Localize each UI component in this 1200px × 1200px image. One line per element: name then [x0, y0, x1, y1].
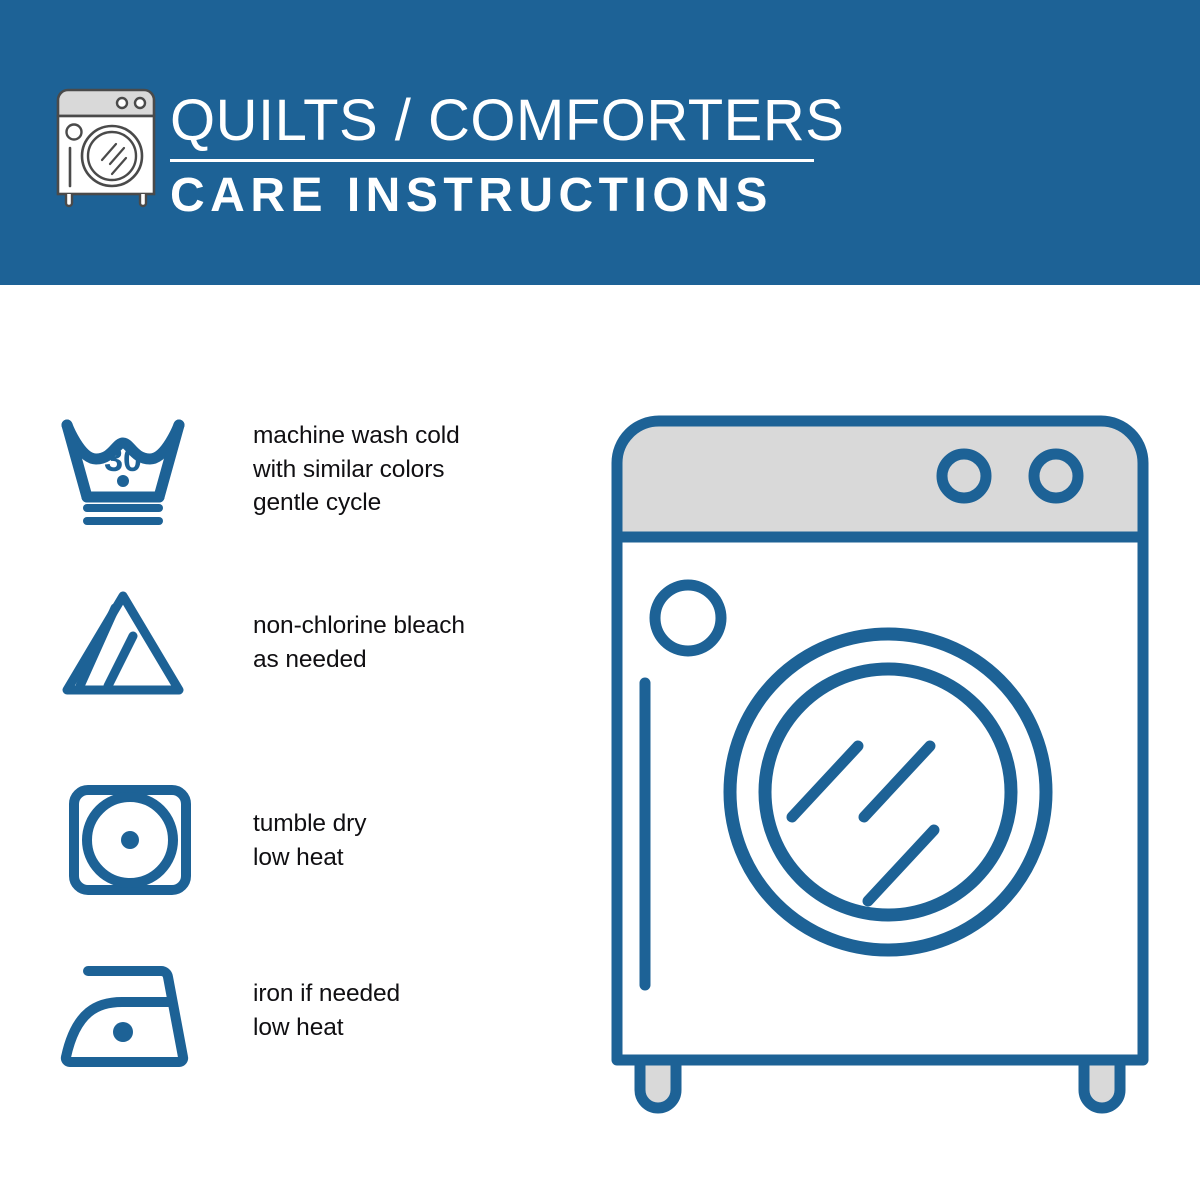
care-label-iron-line-2: low heat	[253, 1011, 400, 1045]
door-shine-lines	[792, 746, 934, 901]
wash-temperature-value: 30	[104, 441, 142, 479]
page-title-secondary: CARE INSTRUCTIONS	[170, 169, 830, 223]
care-label-dry-line-2: low heat	[253, 841, 366, 875]
care-label-wash-line-3: gentle cycle	[253, 486, 460, 520]
care-label-dry: tumble dry low heat	[253, 807, 366, 874]
header-text-block: QUILTS / COMFORTERS CARE INSTRUCTIONS	[170, 88, 830, 223]
control-panel	[617, 421, 1143, 537]
care-label-wash-line-1: machine wash cold	[253, 419, 460, 453]
care-instructions-page: QUILTS / COMFORTERS CARE INSTRUCTIONS 30	[0, 0, 1200, 1200]
care-instruction-list: 30 machine wash cold with similar colors…	[0, 285, 560, 1200]
leg-right	[1084, 1060, 1120, 1108]
non-chlorine-bleach-triangle-icon	[60, 586, 200, 706]
front-load-washing-machine-illustration	[600, 405, 1160, 1125]
care-label-dry-line-1: tumble dry	[253, 807, 366, 841]
care-label-bleach-line-1: non-chlorine bleach	[253, 609, 465, 643]
care-label-wash: machine wash cold with similar colors ge…	[253, 419, 460, 520]
leg-left	[640, 1060, 676, 1108]
washing-machine-icon	[52, 82, 160, 210]
care-label-iron: iron if needed low heat	[253, 977, 400, 1044]
care-label-wash-line-2: with similar colors	[253, 453, 460, 487]
iron-icon	[60, 957, 200, 1077]
iron-heat-dot-icon	[113, 1022, 133, 1042]
care-label-iron-line-1: iron if needed	[253, 977, 400, 1011]
machine-wash-tub-icon: 30	[60, 413, 200, 533]
header-bar: QUILTS / COMFORTERS CARE INSTRUCTIONS	[0, 0, 1200, 285]
status-light	[655, 585, 721, 651]
care-label-bleach: non-chlorine bleach as needed	[253, 609, 465, 676]
tumble-dry-icon	[60, 783, 200, 903]
tumble-dry-heat-dot-icon	[121, 831, 139, 849]
wash-dot-icon	[117, 475, 129, 487]
care-label-bleach-line-2: as needed	[253, 643, 465, 677]
title-divider	[170, 159, 814, 162]
page-title-primary: QUILTS / COMFORTERS	[170, 88, 830, 154]
